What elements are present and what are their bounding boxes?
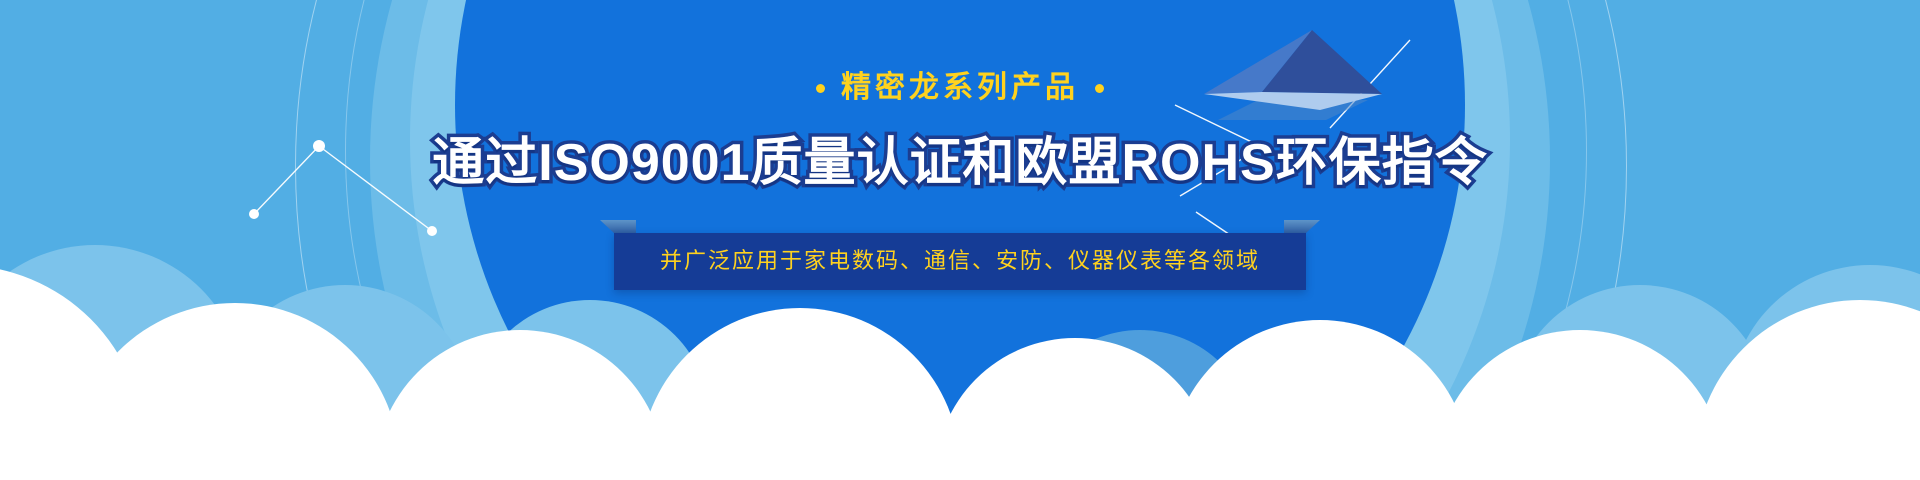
subtitle-ribbon: 并广泛应用于家电数码、通信、安防、仪器仪表等各领域 (614, 233, 1306, 290)
cloud-layer-white (0, 265, 1920, 480)
subtitle-text: 并广泛应用于家电数码、通信、安防、仪器仪表等各领域 (614, 233, 1306, 290)
constellation-node (249, 209, 259, 219)
pyramid-icon (1200, 14, 1400, 124)
ribbon-fold-right (1284, 220, 1320, 233)
eyebrow-dot-left (816, 84, 825, 93)
eyebrow-text: 精密龙系列产品 (841, 73, 1079, 103)
constellation-node (313, 140, 325, 152)
constellation-line-left (254, 146, 432, 231)
eyebrow-dot-right (1095, 84, 1104, 93)
promo-banner: 精密龙系列产品 通过ISO9001质量认证和欧盟ROHS环保指令 并广泛应用于家… (0, 0, 1920, 480)
cloud-layer-mid (1025, 330, 1500, 480)
constellation-node (427, 226, 437, 236)
banner-content: 精密龙系列产品 通过ISO9001质量认证和欧盟ROHS环保指令 并广泛应用于家… (0, 0, 1920, 480)
banner-headline: 通过ISO9001质量认证和欧盟ROHS环保指令 (432, 137, 1488, 189)
ribbon-fold-left (600, 220, 636, 233)
eyebrow-line: 精密龙系列产品 (816, 73, 1104, 103)
